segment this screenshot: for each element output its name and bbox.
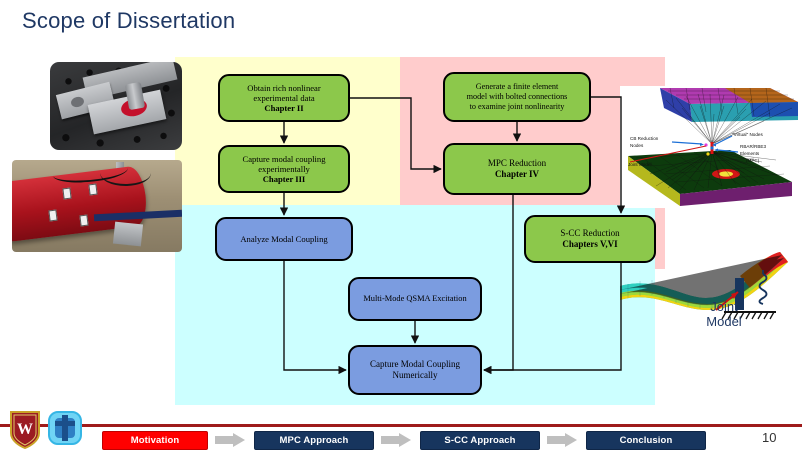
node-generate-fe-line1: Generate a finite element [467,82,568,92]
upper-plate [660,88,798,122]
node-generate-fe-line2: model with bolted connections [467,92,568,102]
node-obtain-data[interactable]: Obtain rich nonlinear experimental data … [218,74,350,122]
label-cb-reduction-nodes-2: Nodes [630,143,644,148]
label-cb-reduction-nodes: CB Reduction [630,136,659,141]
node-generate-fe-model[interactable]: Generate a finite element model with bol… [443,72,591,122]
label-virtual-nodes: "Virtual" Nodes [732,132,763,137]
node-capture-modal-num-line1: Capture Modal Coupling [370,359,460,370]
node-qsma-excitation-label: Multi-Mode QSMA Excitation [363,294,466,304]
node-obtain-data-line2: experimental data [247,93,321,103]
nav-chip-motivation[interactable]: Motivation [102,431,208,450]
node-scc-reduction-label: S-CC Reduction [560,228,619,239]
node-scc-reduction-chapter: Chapters V,VI [560,239,619,250]
node-analyze-modal-coupling[interactable]: Analyze Modal Coupling [215,217,353,261]
nav-arrow-1 [215,433,245,447]
node-capture-modal-exp-line2: experimentally [242,164,325,174]
node-obtain-data-chapter: Chapter II [247,103,321,113]
node-mpc-reduction-chapter: Chapter IV [488,169,546,180]
lower-plate [628,150,792,206]
nav-arrow-2 [381,433,411,447]
label-joint-model: Joint Model [628,162,652,167]
nav-chip-scc-label: S-CC Approach [444,435,515,446]
accelerometer-1 [62,187,71,199]
joint-model-caption: Joint Model [694,300,754,329]
node-analyze-modal-label: Analyze Modal Coupling [240,234,327,244]
label-elements: Elements [740,151,760,156]
node-capture-modal-numerically[interactable]: Capture Modal Coupling Numerically [348,345,482,395]
node-capture-modal-num-line2: Numerically [370,370,460,381]
nav-chip-conclusion-label: Conclusion [620,435,673,446]
red-cylinder-photo [12,160,182,252]
svg-text:W: W [17,421,33,438]
bolted-beam-photo [50,62,182,150]
label-mpc: (MPC) [746,158,760,163]
node-scc-reduction[interactable]: S-CC Reduction Chapters V,VI [524,215,656,263]
page-number: 10 [762,430,776,445]
engineering-dept-logo [46,409,84,447]
nav-chip-mpc-approach[interactable]: MPC Approach [254,431,374,450]
page-title: Scope of Dissertation [22,8,235,34]
node-capture-modal-experimentally[interactable]: Capture modal coupling experimentally Ch… [218,145,350,193]
accelerometer-2 [88,183,97,195]
nav-chip-motivation-label: Motivation [131,435,180,446]
node-generate-fe-line3: to examine joint nonlinearity [467,102,568,112]
nav-arrow-3 [547,433,577,447]
sensor-wire-b [100,160,151,186]
nav-chip-conclusion[interactable]: Conclusion [586,431,706,450]
node-capture-modal-exp-line1: Capture modal coupling [242,154,325,164]
node-qsma-excitation[interactable]: Multi-Mode QSMA Excitation [348,277,482,321]
uw-madison-crest-logo: W [8,409,42,449]
accelerometer-4 [79,215,88,227]
nav-chip-scc-approach[interactable]: S-CC Approach [420,431,540,450]
node-capture-modal-exp-chapter: Chapter III [242,174,325,184]
node-mpc-reduction-label: MPC Reduction [488,158,546,169]
joint-model-caption-line2: Model [706,314,741,329]
node-mpc-reduction[interactable]: MPC Reduction Chapter IV [443,143,591,195]
aluminum-block [113,221,143,246]
label-rbar-rbe3: RBAR/RBE3 [740,144,766,149]
nav-chip-mpc-label: MPC Approach [280,435,349,446]
joint-model-caption-line1: Joint [710,299,737,314]
fe-mpc-diagram: CB Reduction Nodes "Virtual" Nodes RBAR/… [620,86,798,208]
node-obtain-data-line1: Obtain rich nonlinear [247,83,321,93]
